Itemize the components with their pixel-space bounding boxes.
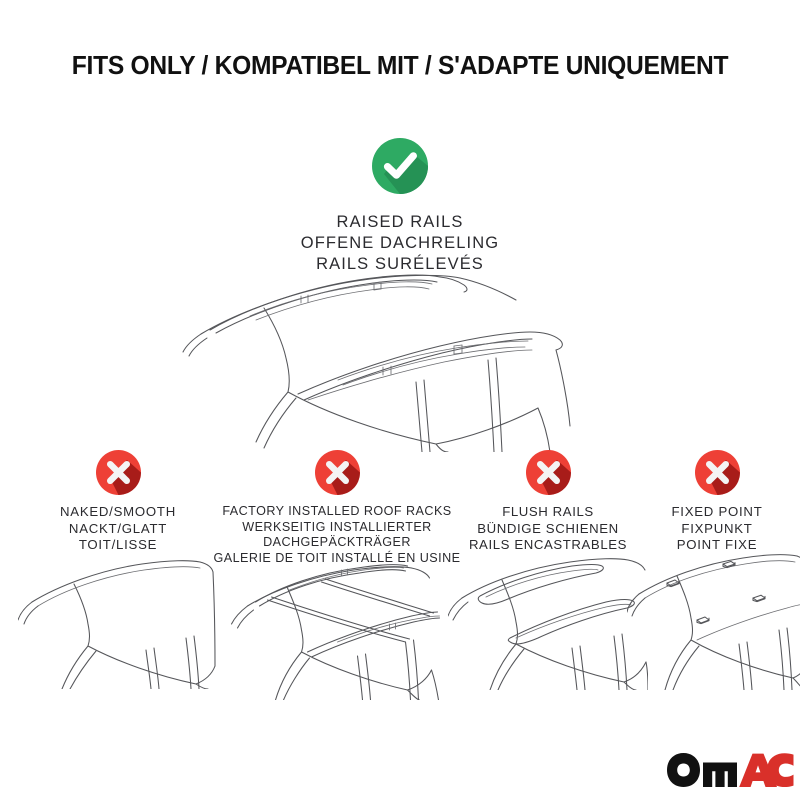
incompatible-item-flush-rails: FLUSH RAILS BÜNDIGE SCHIENEN RAILS ENCAS… — [452, 450, 644, 554]
car-roof-naked-smooth-illustration — [18, 554, 218, 689]
incompatible-item-factory-roof-racks: FACTORY INSTALLED ROOF RACKS WERKSEITIG … — [212, 450, 462, 566]
header-banner: FITS ONLY / KOMPATIBEL MIT / S'ADAPTE UN… — [0, 52, 800, 81]
incompatible-item-fixed-point: FIXED POINT FIXPUNKT POINT FIXE — [634, 450, 800, 554]
label-line-de-2: DACHGEPÄCKTRÄGER — [212, 535, 462, 551]
incompatible-labels: FIXED POINT FIXPUNKT POINT FIXE — [634, 504, 800, 554]
label-line-en: NAKED/SMOOTH — [8, 504, 228, 521]
compatible-label-de: OFFENE DACHRELING — [0, 233, 800, 254]
incompatible-section: NAKED/SMOOTH NACKT/GLATT TOIT/LISSE — [0, 450, 800, 710]
label-line-de-1: WERKSEITIG INSTALLIERTER — [212, 520, 462, 536]
page-title: FITS ONLY / KOMPATIBEL MIT / S'ADAPTE UN… — [14, 52, 786, 81]
check-circle-icon — [372, 138, 428, 194]
compatible-label-en: RAISED RAILS — [0, 212, 800, 233]
incompatible-labels: FLUSH RAILS BÜNDIGE SCHIENEN RAILS ENCAS… — [452, 504, 644, 554]
label-line-fr: TOIT/LISSE — [8, 537, 228, 554]
label-line-en: FIXED POINT — [634, 504, 800, 521]
x-circle-icon — [526, 450, 571, 495]
car-roof-with-raised-rails-illustration — [178, 272, 628, 452]
car-roof-flush-rails-illustration — [448, 552, 648, 690]
incompatible-labels: FACTORY INSTALLED ROOF RACKS WERKSEITIG … — [212, 504, 462, 566]
compatible-section: RAISED RAILS OFFENE DACHRELING RAILS SUR… — [0, 138, 800, 275]
x-circle-icon — [96, 450, 141, 495]
incompatible-item-naked-smooth: NAKED/SMOOTH NACKT/GLATT TOIT/LISSE — [8, 450, 228, 554]
car-roof-factory-installed-racks-illustration — [230, 560, 445, 700]
label-line-de: FIXPUNKT — [634, 521, 800, 538]
incompatible-labels: NAKED/SMOOTH NACKT/GLATT TOIT/LISSE — [8, 504, 228, 554]
x-circle-icon — [695, 450, 740, 495]
label-line-de: NACKT/GLATT — [8, 521, 228, 538]
label-line-en: FLUSH RAILS — [452, 504, 644, 521]
label-line-en: FACTORY INSTALLED ROOF RACKS — [212, 504, 462, 520]
x-circle-icon — [315, 450, 360, 495]
label-line-de: BÜNDIGE SCHIENEN — [452, 521, 644, 538]
omac-logo — [666, 753, 794, 787]
car-roof-fixed-point-illustration — [627, 550, 800, 690]
compatible-labels: RAISED RAILS OFFENE DACHRELING RAILS SUR… — [0, 212, 800, 275]
